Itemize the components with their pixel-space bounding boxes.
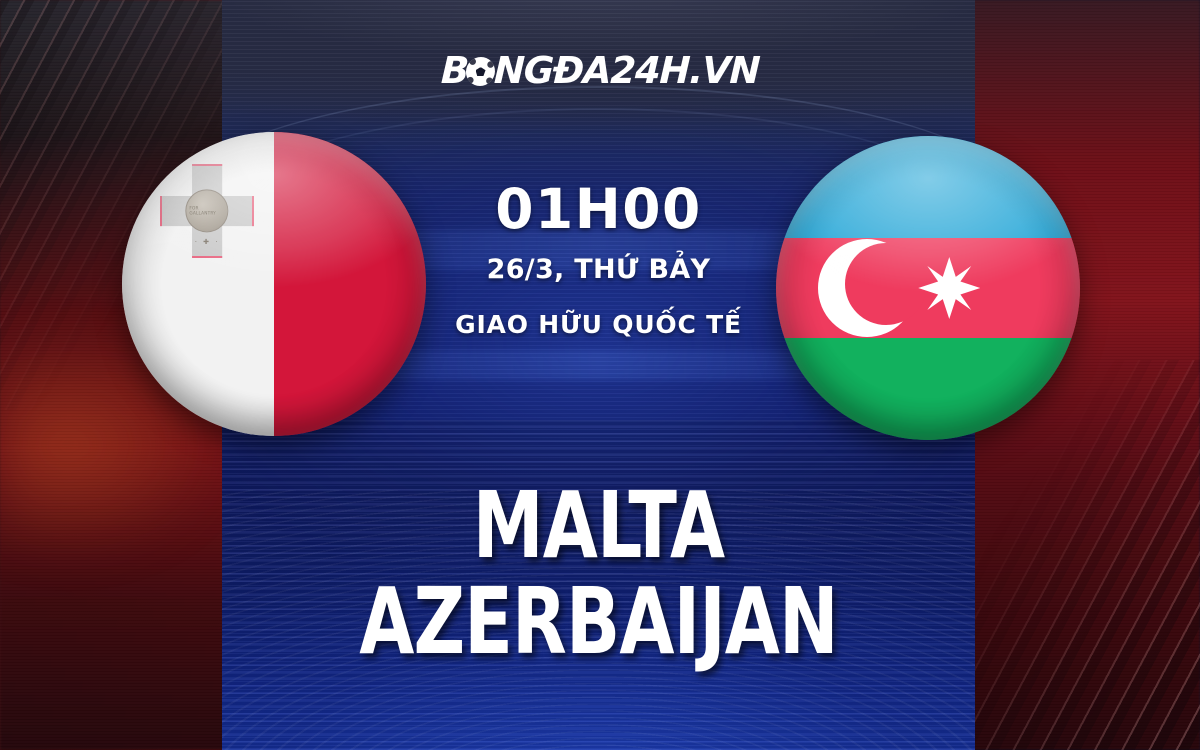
- george-cross-medallion-text: FOR GALLANTRY: [190, 206, 225, 216]
- match-date: 26/3, THỨ BẢY: [222, 255, 975, 285]
- away-team-name: AZERBAIJAN: [275, 578, 923, 666]
- logo-text-before: B: [440, 52, 468, 89]
- azerbaijan-green-band: [776, 338, 1080, 440]
- site-logo[interactable]: B NGĐA24H.VN: [0, 46, 1200, 94]
- george-cross-dots: · ✚ ·: [195, 238, 220, 246]
- logo-text-after: NGĐA24H.VN: [493, 52, 760, 89]
- team-names-block: MALTA AZERBAIJAN: [222, 482, 975, 667]
- match-preview-graphic: B NGĐA24H.VN 01H00 26/3, THỨ BẢY GIAO HỮ…: [0, 0, 1200, 750]
- match-info-block: 01H00 26/3, THỨ BẢY GIAO HỮU QUỐC TẾ: [222, 182, 975, 338]
- kickoff-time: 01H00: [222, 182, 975, 237]
- competition-name: GIAO HỮU QUỐC TẾ: [222, 311, 975, 339]
- home-team-name: MALTA: [275, 482, 923, 570]
- site-logo-text: B NGĐA24H.VN: [440, 52, 760, 89]
- soccer-ball-icon: [465, 57, 495, 86]
